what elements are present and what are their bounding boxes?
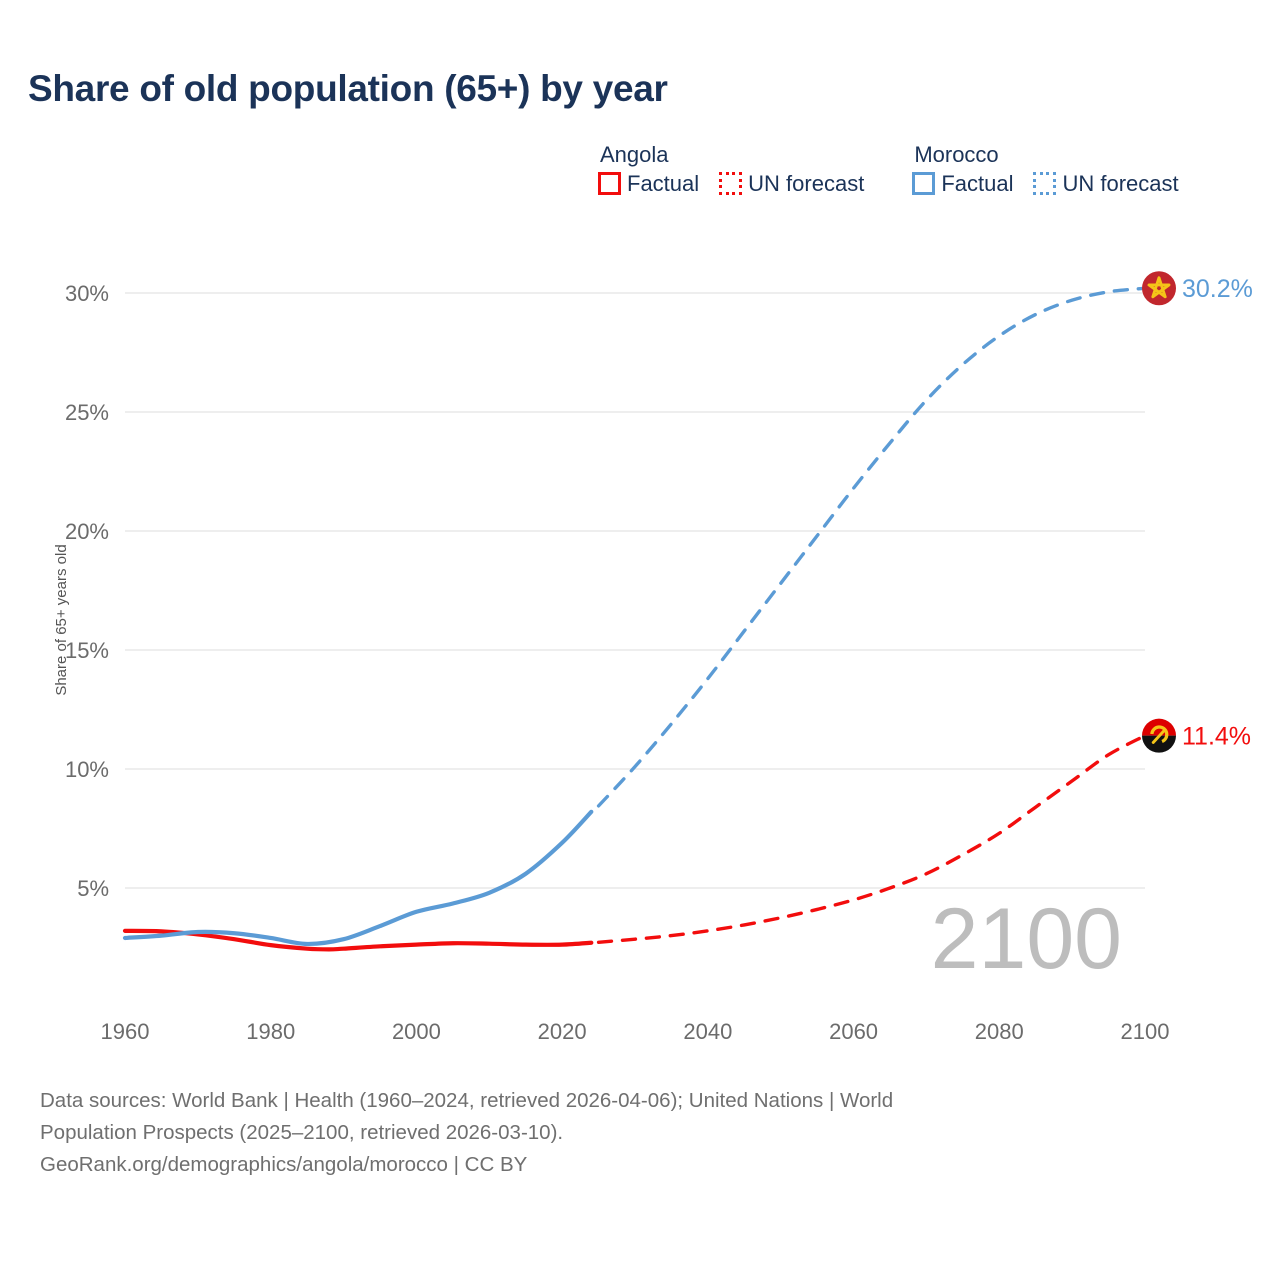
y-tick-label: 20% xyxy=(65,519,109,544)
footer-line-1: Data sources: World Bank | Health (1960–… xyxy=(40,1085,1200,1117)
y-tick-label: 10% xyxy=(65,757,109,782)
legend-country-angola: Angola xyxy=(598,144,864,166)
legend-item-morocco-factual[interactable]: Factual xyxy=(912,172,1013,195)
chart-gridlines xyxy=(125,293,1145,888)
legend-label-morocco-forecast: UN forecast xyxy=(1062,173,1178,195)
chart-end-markers: 11.4%30.2% xyxy=(1142,271,1253,752)
x-tick-label: 2020 xyxy=(538,1019,587,1044)
end-value-label-morocco: 30.2% xyxy=(1182,275,1253,303)
x-tick-label: 2080 xyxy=(975,1019,1024,1044)
legend-item-angola-factual[interactable]: Factual xyxy=(598,172,699,195)
morocco-flag-icon xyxy=(1142,271,1176,305)
x-tick-label: 1960 xyxy=(101,1019,150,1044)
year-watermark: 2100 xyxy=(931,891,1122,987)
chart-footer: Data sources: World Bank | Health (1960–… xyxy=(40,1085,1200,1181)
page-title: Share of old population (65+) by year xyxy=(28,68,668,110)
legend-item-angola-forecast[interactable]: UN forecast xyxy=(719,172,864,195)
legend-label-morocco-factual: Factual xyxy=(941,173,1013,195)
legend-swatch-dotted-icon xyxy=(1033,172,1056,195)
x-tick-label: 2060 xyxy=(829,1019,878,1044)
chart-container: Share of old population (65+) by year An… xyxy=(0,0,1280,1280)
legend-label-angola-factual: Factual xyxy=(627,173,699,195)
series-line-morocco-factual xyxy=(125,812,591,944)
x-tick-label: 2040 xyxy=(683,1019,732,1044)
end-value-label-angola: 11.4% xyxy=(1182,723,1251,751)
legend-group-angola: Angola Factual UN forecast xyxy=(598,144,864,195)
legend-swatch-solid-icon xyxy=(912,172,935,195)
legend-entries-morocco: Factual UN forecast xyxy=(912,172,1178,195)
series-line-morocco-forecast xyxy=(599,288,1145,806)
y-axis-title: Share of 65+ years old xyxy=(53,544,70,695)
legend-group-morocco: Morocco Factual UN forecast xyxy=(912,144,1178,195)
y-tick-label: 30% xyxy=(65,281,109,306)
legend-country-morocco: Morocco xyxy=(912,144,1178,166)
legend-swatch-solid-icon xyxy=(598,172,621,195)
footer-line-3: GeoRank.org/demographics/angola/morocco … xyxy=(40,1149,1200,1181)
y-tick-label: 5% xyxy=(77,876,109,901)
chart-legend: Angola Factual UN forecast Morocco Factu… xyxy=(598,144,1179,195)
chart-y-tick-labels: 5%10%15%20%25%30% xyxy=(65,281,109,901)
footer-line-2: Population Prospects (2025–2100, retriev… xyxy=(40,1117,1200,1149)
y-tick-label: 25% xyxy=(65,400,109,425)
legend-entries-angola: Factual UN forecast xyxy=(598,172,864,195)
legend-item-morocco-forecast[interactable]: UN forecast xyxy=(1033,172,1178,195)
x-tick-label: 2000 xyxy=(392,1019,441,1044)
legend-label-angola-forecast: UN forecast xyxy=(748,173,864,195)
angola-flag-icon xyxy=(1142,719,1176,753)
chart-series-lines xyxy=(125,288,1145,949)
chart-x-tick-labels: 19601980200020202040206020802100 xyxy=(101,1019,1170,1044)
y-tick-label: 15% xyxy=(65,638,109,663)
x-tick-label: 1980 xyxy=(246,1019,295,1044)
x-tick-label: 2100 xyxy=(1121,1019,1170,1044)
legend-swatch-dotted-icon xyxy=(719,172,742,195)
